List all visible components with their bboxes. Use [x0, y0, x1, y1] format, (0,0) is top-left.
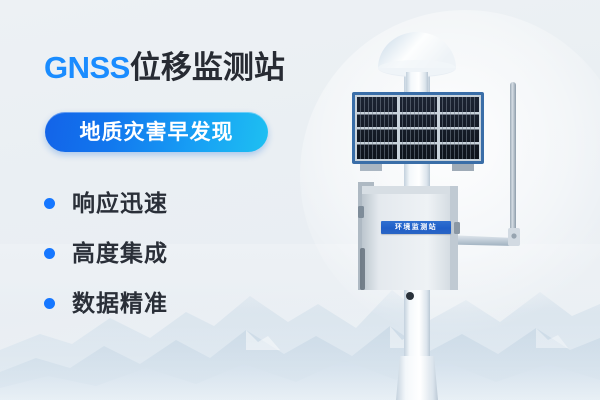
title-brand: GNSS	[44, 50, 130, 85]
bullet-dot-icon	[44, 248, 55, 259]
tagline-badge: 地质灾害早发现	[45, 112, 268, 152]
list-item: 数据精准	[44, 278, 274, 328]
feature-label: 数据精准	[72, 292, 168, 315]
bullet-dot-icon	[44, 198, 55, 209]
enclosure-nameplate-text: 环境监测站	[395, 224, 437, 231]
feature-label: 高度集成	[72, 242, 168, 265]
tagline-badge-label: 地质灾害早发现	[80, 122, 234, 143]
promo-banner: GNSS位移监测站 地质灾害早发现 响应迅速 高度集成 数据精准	[0, 0, 600, 400]
title-chinese: 位移监测站	[130, 50, 285, 85]
enclosure-nameplate: 环境监测站	[381, 221, 451, 234]
feature-label: 响应迅速	[72, 192, 168, 215]
feature-list: 响应迅速 高度集成 数据精准	[44, 178, 274, 328]
list-item: 高度集成	[44, 228, 274, 278]
list-item: 响应迅速	[44, 178, 274, 228]
monitoring-station-image	[330, 0, 600, 400]
equipment-enclosure	[358, 182, 460, 300]
page-title: GNSS位移监测站	[44, 52, 285, 83]
solar-panel	[352, 92, 484, 171]
bullet-dot-icon	[44, 298, 55, 309]
